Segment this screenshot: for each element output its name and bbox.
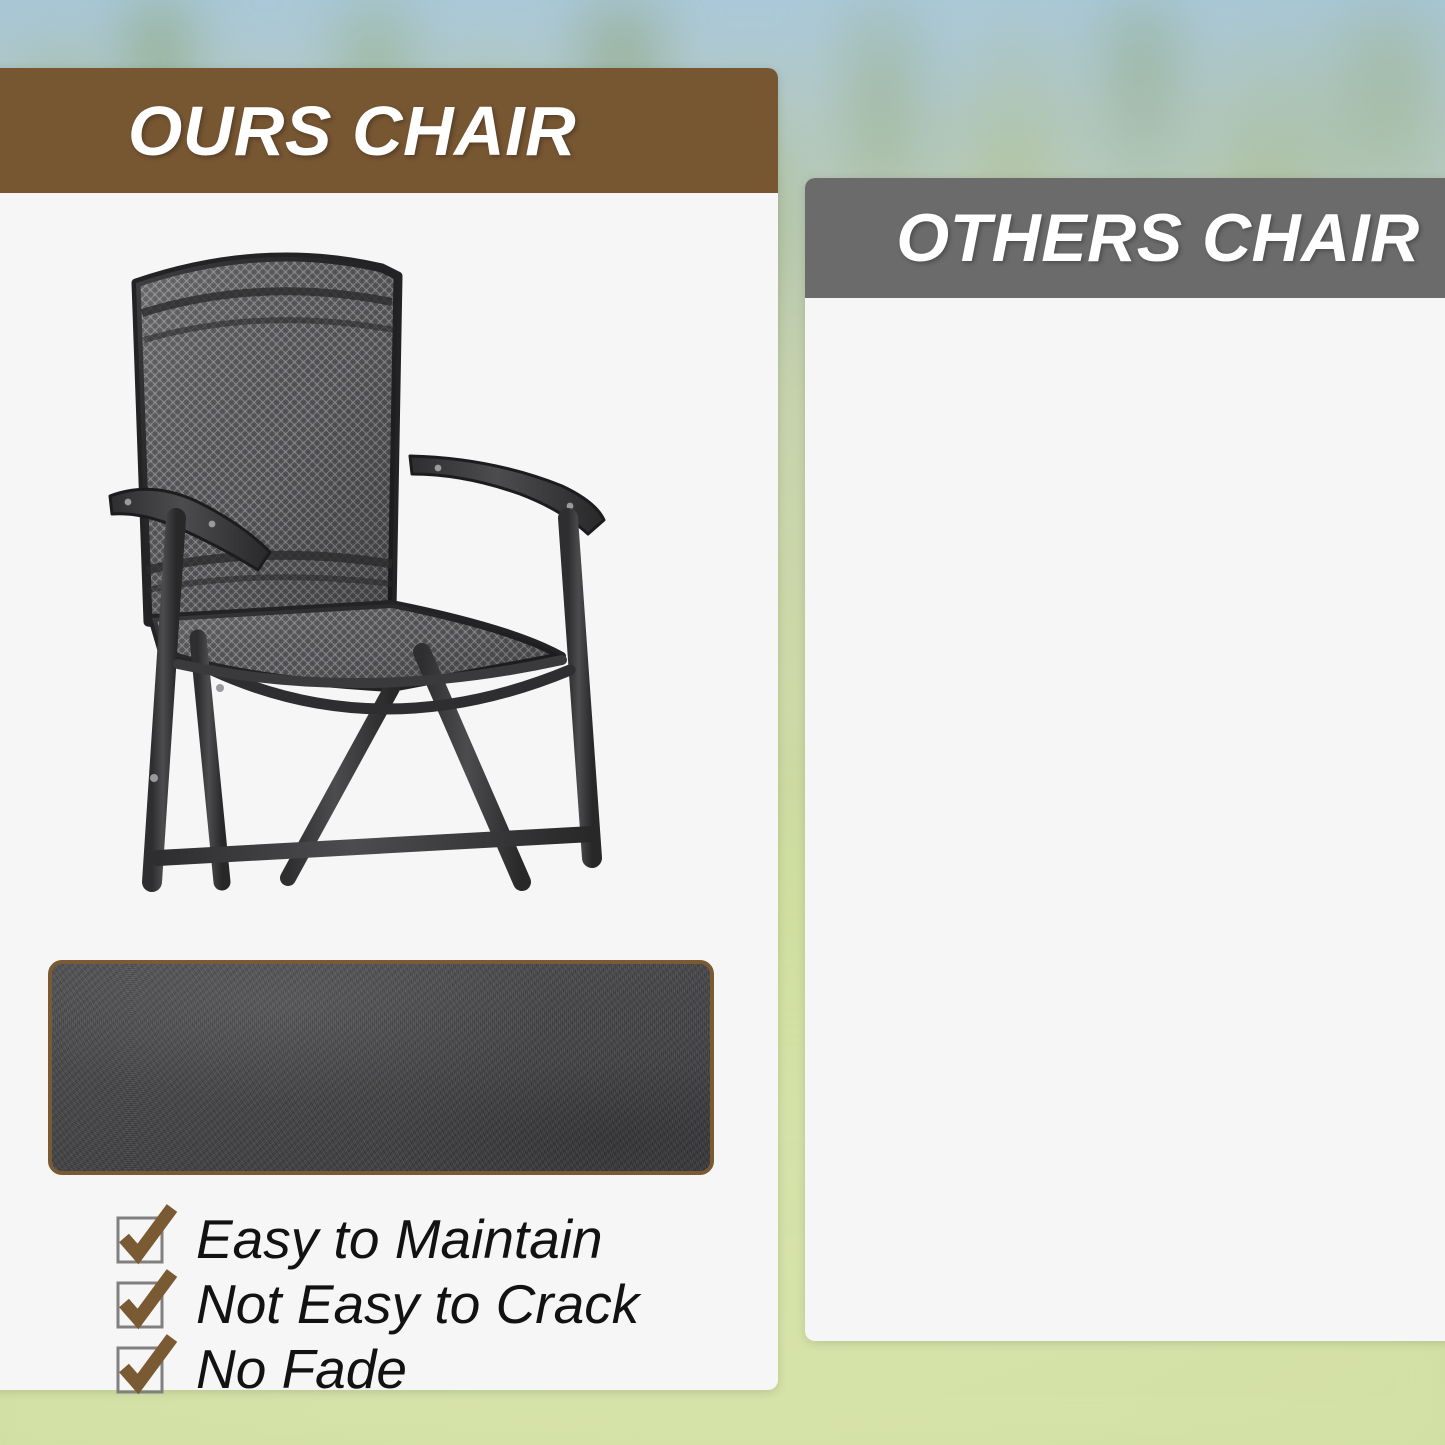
- list-item: Not Easy to Crack: [118, 1277, 639, 1332]
- others-chair-header: OTHERS CHAIR: [805, 178, 1445, 298]
- list-item-label: Easy to Maintain: [196, 1212, 603, 1267]
- ours-feature-list: Easy to Maintain Not Easy to Crack: [118, 1212, 639, 1407]
- others-chair-panel: OTHERS CHAIR: [805, 178, 1445, 1341]
- comparison-infographic: OURS CHAIR: [0, 0, 1445, 1445]
- ours-chair-panel: OURS CHAIR: [0, 68, 778, 1390]
- check-icon: [118, 1218, 162, 1262]
- list-item: No Fade: [118, 1342, 639, 1397]
- list-item: Easy to Maintain: [118, 1212, 639, 1267]
- grey-mesh-folding-chair-illustration: [92, 218, 692, 918]
- ours-chair-header: OURS CHAIR: [0, 68, 778, 193]
- check-icon: [118, 1283, 162, 1327]
- list-item-label: No Fade: [196, 1342, 407, 1397]
- list-item-label: Not Easy to Crack: [196, 1277, 639, 1332]
- ours-chair-product-image: [92, 218, 692, 918]
- ours-material-swatch-smooth-finish: [48, 960, 714, 1175]
- check-icon: [118, 1348, 162, 1392]
